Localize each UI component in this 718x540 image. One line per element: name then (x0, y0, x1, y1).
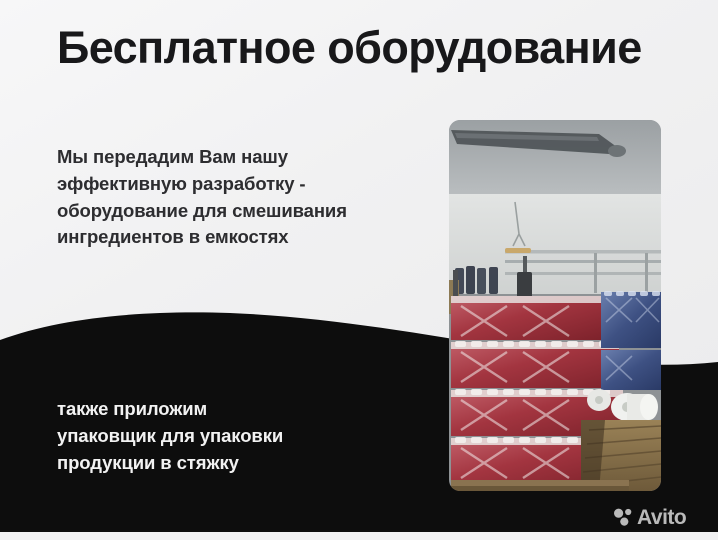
page-title: Бесплатное оборудование (57, 24, 687, 71)
copy-line: оборудование для смешивания (57, 198, 429, 225)
warehouse-photo-icon (449, 120, 661, 491)
avito-wordmark: Avito (637, 507, 686, 528)
slide-canvas: Бесплатное оборудование Мы передадим Вам… (0, 0, 718, 540)
avito-logo-icon (613, 507, 633, 527)
warehouse-photo (449, 120, 661, 491)
avito-watermark: Avito (613, 504, 686, 530)
copy-line: эффективную разработку - (57, 171, 429, 198)
offer-description-top: Мы передадим Вам нашу эффективную разраб… (57, 144, 429, 251)
offer-description-bottom: также приложим упаковщик для упаковки пр… (57, 396, 387, 476)
bottom-edge-strip (0, 532, 718, 540)
copy-line: упаковщик для упаковки (57, 423, 387, 450)
copy-line: Мы передадим Вам нашу (57, 144, 429, 171)
copy-line: также приложим (57, 396, 387, 423)
copy-line: ингредиентов в емкостях (57, 224, 429, 251)
copy-line: продукции в стяжку (57, 450, 387, 477)
